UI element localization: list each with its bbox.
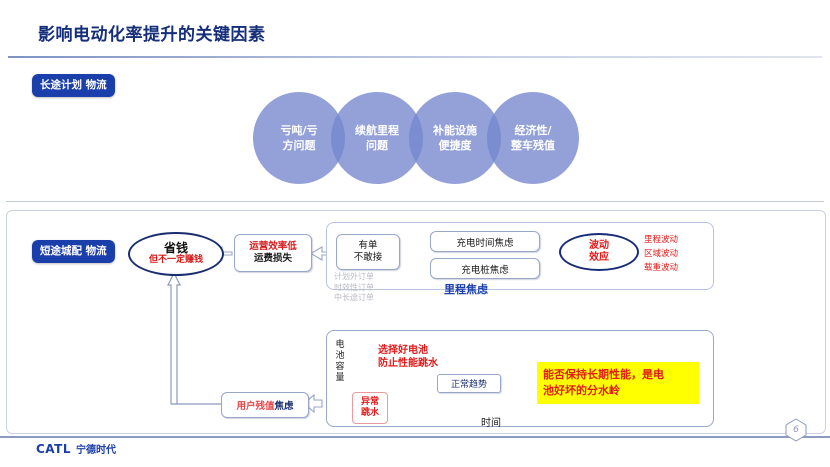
ellipse-fluctuation-line1: 波动 xyxy=(589,240,609,252)
fluctuation-list: 里程波动 区域波动 载重波动 xyxy=(644,233,678,275)
logo-chinese-text: 宁德时代 xyxy=(76,441,116,456)
venn-circle-group: 亏吨/亏 方问题 续航里程 问题 补能设施 便捷度 经济性/ 整车残值 xyxy=(253,92,593,184)
chart-y-axis-label: 电池容量 xyxy=(334,340,346,384)
ellipse-fluctuation-line2: 效应 xyxy=(589,252,609,264)
ellipse-save-money: 省钱 但不一定赚钱 xyxy=(128,232,224,276)
box-charging-pile-label: 充电桩焦虑 xyxy=(461,262,509,276)
orders-note: 计划外订单 时效性订单 中长途订单 xyxy=(334,272,374,304)
box-charging-pile-anxiety: 充电桩焦虑 xyxy=(430,258,540,279)
chart-x-axis-label: 时间 xyxy=(481,414,501,429)
box-charging-time-anxiety: 充电时间焦虑 xyxy=(430,231,540,252)
box-charging-time-label: 充电时间焦虑 xyxy=(456,235,513,249)
ellipse-save-line1: 省钱 xyxy=(164,242,188,255)
highlight-callout: 能否保持长期性能，是电 池好坏的分水岭 xyxy=(537,362,699,404)
box-residual-blue-text: 焦虑 xyxy=(275,398,294,412)
circle-label-3: 经济性/ 整车残值 xyxy=(511,123,555,153)
logo-latin-text: CATL xyxy=(36,442,71,456)
ellipse-save-line2: 但不一定赚钱 xyxy=(149,255,203,266)
footer-divider xyxy=(0,436,830,438)
page-title: 影响电动化率提升的关键因素 xyxy=(38,20,266,45)
box-order-refusal: 有单 不敢接 xyxy=(336,234,400,270)
catl-logo: CATL 宁德时代 xyxy=(36,441,116,456)
box-operation-efficiency: 运营效率低 运费损失 xyxy=(234,234,312,272)
circle-label-0: 亏吨/亏 方问题 xyxy=(280,123,317,153)
slide-root: 影响电动化率提升的关键因素 长途计划 物流 亏吨/亏 方问题 续航里程 问题 补… xyxy=(0,0,830,467)
badge-short-haul-logistics: 短途城配 物流 xyxy=(32,240,115,263)
title-divider xyxy=(8,56,822,58)
box-operation-line2: 运费损失 xyxy=(254,253,292,265)
circle-label-1: 续航里程 问题 xyxy=(355,123,399,153)
chart-annotation-choose-battery: 选择好电池 防止性能跳水 xyxy=(378,344,438,370)
chart-annotation-abnormal-drop: 异常 跳水 xyxy=(352,392,388,424)
badge-long-haul-logistics: 长途计划 物流 xyxy=(32,74,115,97)
ellipse-fluctuation-effect: 波动 效应 xyxy=(559,233,639,271)
chart-annotation-normal-trend: 正常趋势 xyxy=(437,374,501,393)
mileage-anxiety-label: 里程焦虑 xyxy=(444,281,488,297)
box-order-line1: 有单 xyxy=(358,240,377,252)
page-number-badge: 6 xyxy=(785,418,807,442)
page-number-value: 6 xyxy=(785,418,807,442)
box-order-line2: 不敢接 xyxy=(354,252,383,264)
section-divider xyxy=(6,201,824,202)
circle-label-2: 补能设施 便捷度 xyxy=(433,123,477,153)
box-residual-value-anxiety: 用户残值 焦虑 xyxy=(221,392,309,418)
box-residual-red-text: 用户残值 xyxy=(236,398,274,412)
box-operation-line1: 运营效率低 xyxy=(249,241,297,253)
circle-item-3: 经济性/ 整车残值 xyxy=(487,92,579,184)
